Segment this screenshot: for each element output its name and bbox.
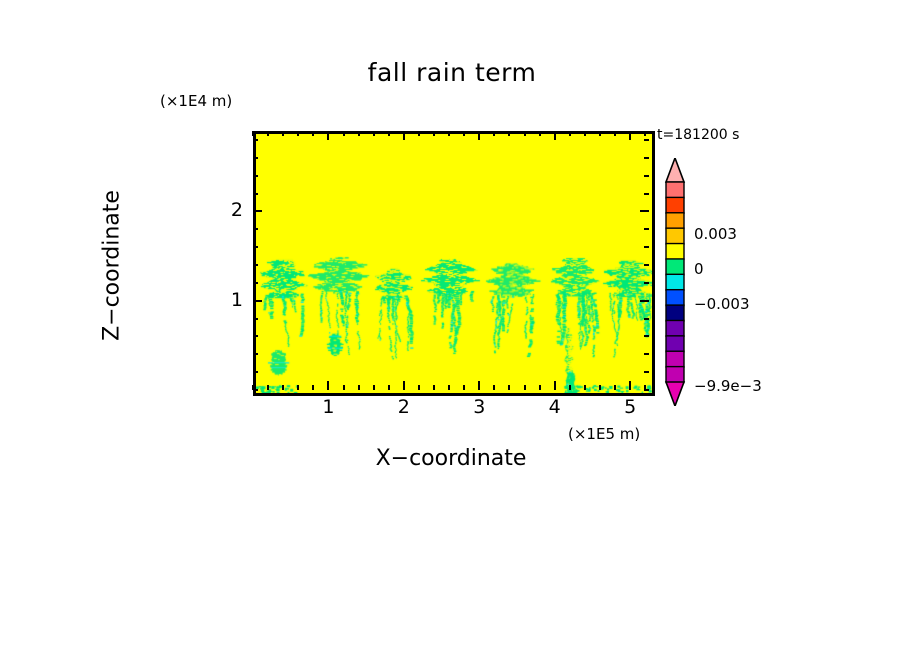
colorbar-arrow-top (666, 158, 684, 182)
y-tick-right (644, 264, 649, 266)
y-tick-label: 2 (213, 199, 243, 221)
x-tick-top (403, 131, 405, 140)
x-tick-label: 5 (610, 396, 650, 418)
x-tick-bottom (297, 385, 299, 390)
colorbar-segment (666, 290, 684, 306)
x-tick-bottom (418, 385, 420, 390)
heatmap-field (256, 134, 652, 393)
y-tick-left (253, 228, 258, 230)
y-tick-right (644, 246, 649, 248)
x-tick-top (629, 131, 631, 140)
x-tick-bottom (282, 385, 284, 390)
x-tick-top (373, 131, 375, 136)
x-tick-label: 2 (384, 396, 424, 418)
x-tick-bottom (599, 385, 601, 390)
y-tick-right (640, 300, 649, 302)
y-tick-right (644, 282, 649, 284)
colorbar-label-1: 0 (694, 260, 704, 278)
x-tick-top (644, 131, 646, 136)
y-tick-left (253, 371, 258, 373)
x-tick-bottom (614, 385, 616, 390)
colorbar-segment (666, 320, 684, 336)
x-tick-bottom (403, 381, 405, 390)
y-tick-right (644, 318, 649, 320)
x-tick-top (282, 131, 284, 136)
x-axis-unit-label: (×1E5 m) (568, 425, 640, 443)
x-tick-bottom (327, 381, 329, 390)
y-tick-left (253, 246, 258, 248)
x-tick-top (614, 131, 616, 136)
y-tick-right (644, 389, 649, 391)
x-tick-bottom (478, 381, 480, 390)
x-tick-top (599, 131, 601, 136)
x-tick-top (478, 131, 480, 140)
page-title: fall rain term (0, 58, 904, 87)
x-tick-top (327, 131, 329, 140)
plot-area (253, 131, 655, 396)
x-tick-top (343, 131, 345, 136)
x-tick-bottom (343, 385, 345, 390)
colorbar-segment (666, 336, 684, 352)
colorbar (660, 158, 690, 406)
x-tick-bottom (388, 385, 390, 390)
x-tick-bottom (493, 385, 495, 390)
y-tick-left (253, 193, 258, 195)
x-tick-top (388, 131, 390, 136)
x-tick-label: 1 (308, 396, 348, 418)
y-tick-label: 1 (213, 289, 243, 311)
y-tick-right (644, 193, 649, 195)
x-tick-bottom (508, 385, 510, 390)
y-axis-title: Z−coordinate (100, 136, 125, 396)
x-tick-top (312, 131, 314, 136)
x-tick-bottom (569, 385, 571, 390)
x-tick-top (252, 131, 254, 136)
x-tick-top (267, 131, 269, 136)
colorbar-segment (666, 197, 684, 213)
x-tick-bottom (554, 381, 556, 390)
x-tick-bottom (267, 385, 269, 390)
colorbar-segment (666, 182, 684, 198)
y-tick-right (644, 353, 649, 355)
x-tick-top (569, 131, 571, 136)
y-tick-right (644, 371, 649, 373)
y-tick-left (253, 264, 258, 266)
colorbar-segment (666, 244, 684, 260)
y-tick-right (644, 157, 649, 159)
x-tick-top (493, 131, 495, 136)
x-tick-top (584, 131, 586, 136)
y-tick-left (253, 139, 258, 141)
y-tick-right (644, 175, 649, 177)
x-tick-bottom (358, 385, 360, 390)
x-tick-bottom (539, 385, 541, 390)
y-tick-left (253, 335, 258, 337)
x-tick-bottom (463, 385, 465, 390)
y-axis-unit-label: (×1E4 m) (160, 92, 232, 110)
timestamp-annotation: t=181200 s (657, 127, 739, 143)
x-tick-top (554, 131, 556, 140)
colorbar-segment (666, 228, 684, 244)
y-tick-left (253, 300, 262, 302)
y-tick-right (640, 210, 649, 212)
x-tick-bottom (433, 385, 435, 390)
x-tick-bottom (584, 385, 586, 390)
y-tick-right (644, 228, 649, 230)
x-tick-top (448, 131, 450, 136)
colorbar-segment (666, 351, 684, 367)
colorbar-label-3: −9.9e−3 (694, 377, 762, 395)
x-tick-bottom (448, 385, 450, 390)
x-tick-top (297, 131, 299, 136)
x-tick-top (418, 131, 420, 136)
y-tick-right (644, 335, 649, 337)
x-tick-label: 4 (535, 396, 575, 418)
x-tick-top (508, 131, 510, 136)
x-tick-bottom (312, 385, 314, 390)
colorbar-label-2: −0.003 (694, 295, 750, 313)
colorbar-arrow-bottom (666, 382, 684, 406)
x-tick-bottom (629, 381, 631, 390)
colorbar-segment (666, 213, 684, 229)
x-tick-bottom (373, 385, 375, 390)
y-tick-left (253, 353, 258, 355)
y-tick-left (253, 175, 258, 177)
x-tick-top (433, 131, 435, 136)
y-tick-left (253, 210, 262, 212)
y-tick-left (253, 389, 258, 391)
colorbar-segment (666, 259, 684, 275)
x-tick-bottom (524, 385, 526, 390)
colorbar-segment (666, 305, 684, 321)
x-tick-top (524, 131, 526, 136)
y-tick-right (644, 139, 649, 141)
x-axis-title: X−coordinate (253, 446, 649, 471)
x-tick-label: 3 (459, 396, 499, 418)
colorbar-segment (666, 274, 684, 290)
y-tick-left (253, 282, 258, 284)
colorbar-label-0: 0.003 (694, 225, 737, 243)
colorbar-segment (666, 367, 684, 383)
x-tick-top (358, 131, 360, 136)
colorbar-swatches (660, 158, 690, 406)
x-tick-top (539, 131, 541, 136)
y-tick-left (253, 318, 258, 320)
x-tick-top (463, 131, 465, 136)
y-tick-left (253, 157, 258, 159)
